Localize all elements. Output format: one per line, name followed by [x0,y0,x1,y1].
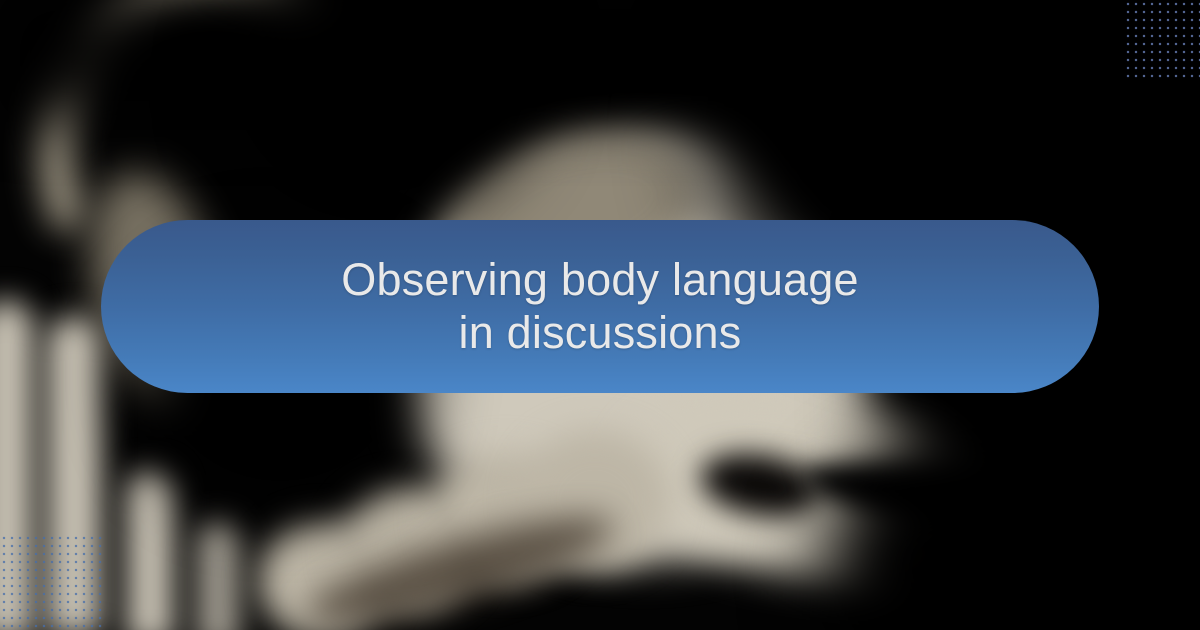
cta-pill-button[interactable]: Observing body language in discussions [101,220,1099,393]
banner-canvas: Observing body language in discussions [0,0,1200,630]
cta-container: Observing body language in discussions [0,0,1200,630]
cta-label: Observing body language in discussions [341,253,858,359]
